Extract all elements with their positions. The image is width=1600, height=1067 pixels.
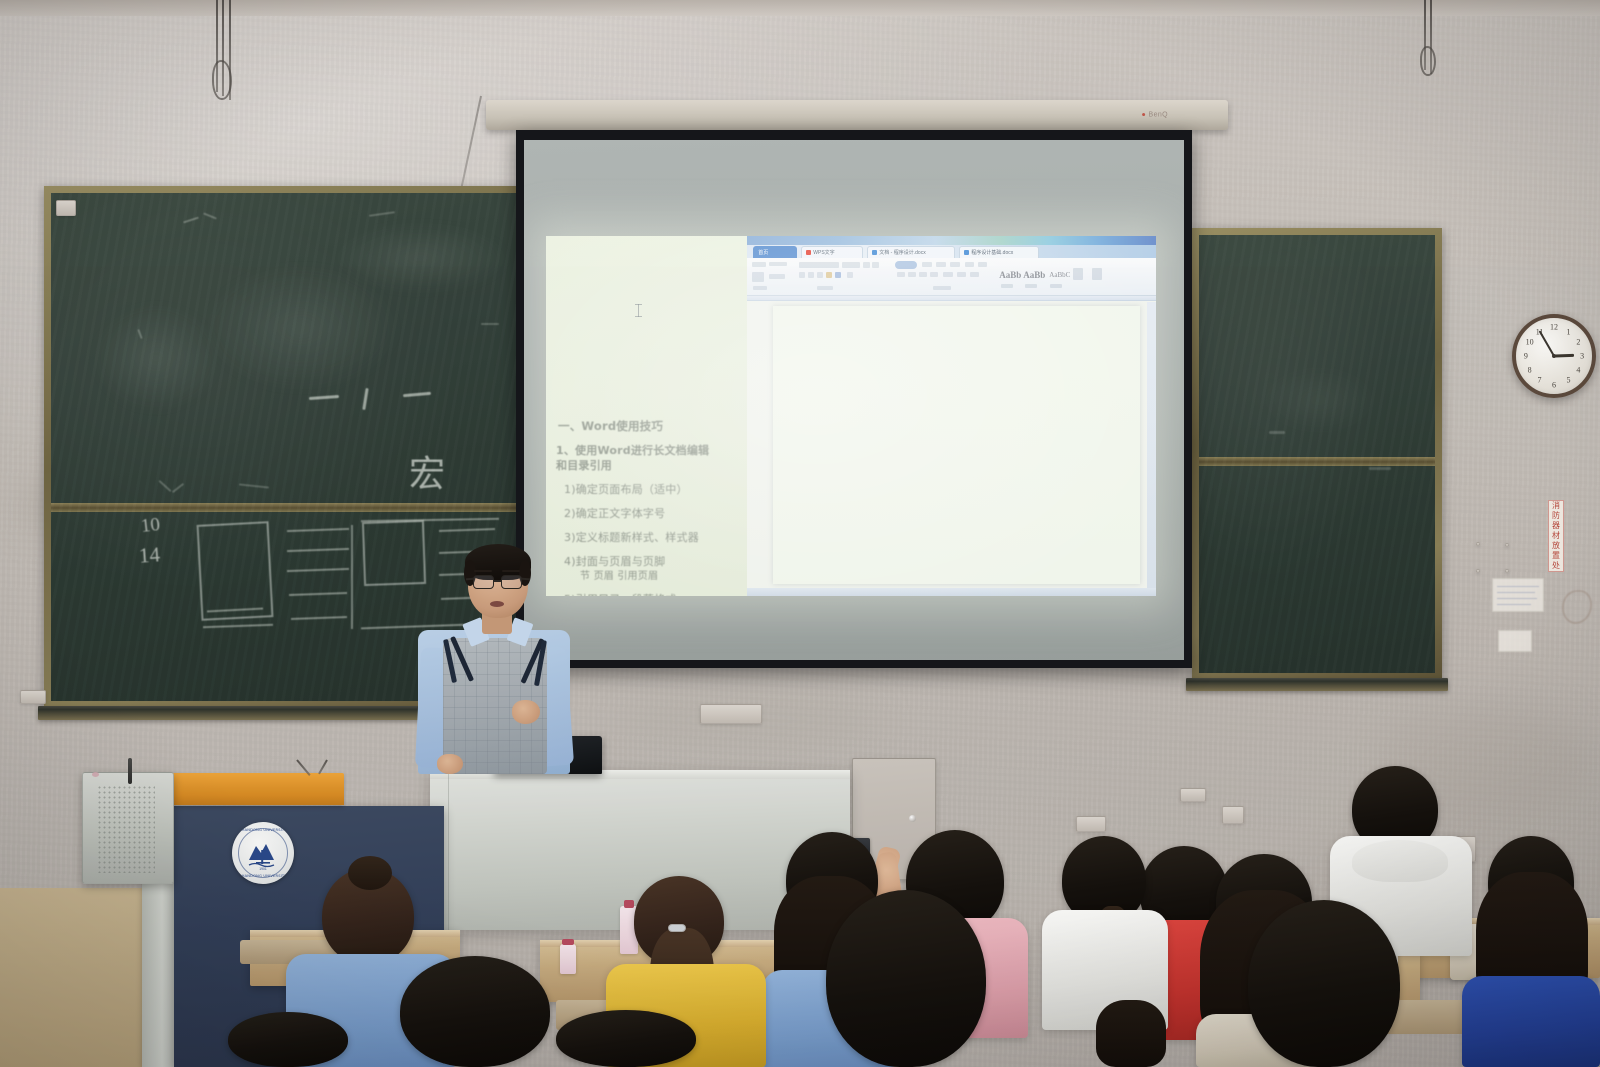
clock-numeral-8: 8	[1528, 366, 1532, 375]
projected-image: 一、Word使用技巧 1、使用Word进行长文档编辑 和目录引用 1)确定页面布…	[546, 236, 1156, 596]
wall-plate-left-top[interactable]	[56, 200, 76, 216]
chalk-mark-c	[369, 211, 395, 217]
projection-screen: 一、Word使用技巧 1、使用Word进行长文档编辑 和目录引用 1)确定页面布…	[516, 130, 1192, 668]
ribbon-font-color-button[interactable]	[835, 272, 841, 278]
blackboard-divider	[51, 503, 553, 512]
style-label-h2	[1050, 284, 1062, 288]
seal-text-bottom: SHANDONG UNIVERSITY	[232, 874, 294, 878]
student-head-front-left	[400, 956, 550, 1067]
ribbon-style-quick[interactable]	[895, 261, 917, 269]
style-label-normal	[1001, 284, 1013, 288]
slide-line-7: 节 页眉 引用页眉	[580, 572, 658, 583]
ribbon-underline-button[interactable]	[817, 272, 823, 278]
slide-line-3: 1)确定页面布局（适中）	[564, 484, 688, 496]
tab-document-1[interactable]: 文档 - 程序设计.docx	[867, 246, 955, 258]
slide-line-6: 4)封面与页眉与页脚	[564, 556, 665, 568]
ribbon-indent-dec[interactable]	[965, 262, 974, 267]
wall-conduit-left	[20, 690, 46, 704]
chalk-dash-1	[309, 395, 339, 400]
student-head-front-center	[826, 890, 986, 1067]
right-side-pane[interactable]	[1147, 302, 1156, 588]
wps-office-window: 首页 WPS文字 文档 - 程序设计.docx 程序设计基础.docx	[747, 236, 1156, 596]
ceiling-cable-knot-left	[212, 60, 232, 100]
student-head-front-right	[1248, 900, 1400, 1067]
chalk-page-rule-m3	[287, 568, 349, 572]
clock-numeral-4: 4	[1576, 366, 1580, 375]
chalk-page-rule-m4	[289, 592, 347, 596]
chalk-mark-b	[203, 212, 217, 219]
ribbon-bullets-button[interactable]	[922, 262, 932, 267]
seal-text-top: SHANDONG UNIVERSITY	[232, 828, 294, 832]
chalk-number-14: 14	[138, 542, 161, 568]
seal-year: 1901	[232, 867, 294, 871]
chalk-page-rule-r1	[439, 528, 495, 532]
tab-document-2-label: 程序设计基础.docx	[971, 249, 1013, 256]
speaker-grille	[97, 785, 155, 873]
clock-numeral-12: 12	[1550, 323, 1558, 332]
notice-rule-3	[1497, 598, 1537, 599]
lecturer-glasses-lens-right	[501, 575, 522, 589]
chalk-page-sketch-right	[362, 520, 426, 586]
wall-screw-3	[1476, 569, 1480, 573]
wall-outlet-center[interactable]	[1076, 816, 1106, 832]
wall-junction-box[interactable]	[1222, 806, 1244, 824]
doc-icon-1	[872, 250, 877, 255]
blackboard-right-divider	[1199, 457, 1435, 466]
clock-numeral-5: 5	[1566, 376, 1570, 385]
wall-sticker-small	[1498, 630, 1532, 652]
screen-brand-label: ● BenQ	[1142, 112, 1169, 119]
chalk-mark-a	[183, 217, 199, 224]
lecturer-hand-right	[512, 700, 540, 724]
chalk-mark-r1	[1269, 431, 1285, 434]
chalk-page-rule-m2	[287, 548, 349, 552]
cup-lid	[562, 939, 574, 945]
chalk-number-10: 10	[140, 514, 161, 538]
chalk-page-rule-m1	[287, 528, 349, 532]
ribbon-align-center[interactable]	[908, 272, 916, 277]
slide-line-8: 5)引用目录、段落格式	[564, 594, 677, 596]
chalk-page-outline-top	[361, 518, 499, 522]
podium-microphone-stalk[interactable]	[128, 758, 132, 784]
chalk-mark-e	[481, 323, 499, 325]
chalk-slash	[362, 388, 368, 410]
student-body-blue-far-right	[1462, 976, 1600, 1067]
wall-screw-4	[1505, 569, 1509, 573]
notice-rule-4	[1497, 604, 1531, 605]
style-preview-heading2[interactable]: AaBbC	[1049, 271, 1070, 279]
chalk-page-rule-m5	[291, 616, 347, 620]
ribbon-clipboard-label	[753, 286, 767, 290]
clock-numeral-2: 2	[1576, 337, 1580, 346]
lecturer-mouth	[490, 601, 504, 607]
chalk-mark-h	[239, 483, 269, 488]
ribbon-font-size-box[interactable]	[842, 262, 860, 268]
notice-rule-2	[1497, 592, 1535, 593]
ribbon-shading-button[interactable]	[957, 272, 966, 277]
clock-minute-hand	[1539, 330, 1555, 356]
lecturer-glasses-lens-left	[473, 575, 494, 589]
ribbon-cut-button[interactable]	[769, 262, 787, 266]
wall-notice-paper	[1492, 578, 1544, 612]
clock-numeral-6: 6	[1552, 380, 1556, 389]
ribbon-clear-format[interactable]	[847, 272, 853, 278]
chalk-mark-f	[158, 480, 171, 492]
style-label-h1	[1025, 284, 1037, 288]
hair-tie	[668, 924, 686, 932]
wall-screw-1	[1476, 542, 1480, 546]
document-tab-bar: 首页 WPS文字 文档 - 程序设计.docx 程序设计基础.docx	[747, 245, 1156, 258]
tab-wps-writer[interactable]: WPS文字	[801, 246, 863, 258]
chalk-page-sketch-left	[197, 521, 274, 621]
university-seal-logo: SHANDONG UNIVERSITY 1901 SHANDONG UNIVER…	[232, 822, 294, 884]
lecturer-hand-left	[437, 754, 463, 774]
wps-writer-icon	[806, 250, 811, 255]
wall-switch-box-left[interactable]	[700, 704, 762, 724]
ribbon-indent-inc[interactable]	[978, 262, 987, 267]
chalk-mark-g	[172, 483, 184, 493]
slide-heading: 一、Word使用技巧	[558, 420, 663, 432]
lecture-hall-photo: 宏 10 14	[0, 0, 1600, 1067]
ribbon-borders-button[interactable]	[970, 272, 979, 277]
document-page[interactable]	[773, 306, 1140, 584]
ribbon-multilevel-button[interactable]	[950, 262, 960, 267]
chalk-page-spine	[351, 525, 353, 629]
lecturer-brow-right	[502, 570, 520, 572]
slide-line-2: 和目录引用	[556, 460, 612, 472]
projector-screen-housing: ● BenQ	[486, 100, 1228, 130]
slide-line-4: 2)确定正文字体字号	[564, 508, 665, 520]
chalk-dust-2	[91, 303, 221, 413]
ribbon-paragraph-label	[933, 286, 951, 290]
ribbon-font-name-box[interactable]	[799, 262, 839, 268]
ribbon-align-justify[interactable]	[930, 272, 938, 277]
bun-blue-shirt-left	[348, 856, 392, 890]
chalk-dust-r1	[1259, 365, 1379, 435]
chalk-dash-2	[403, 392, 431, 397]
podium-speaker-panel[interactable]	[82, 772, 174, 884]
cabinet-knob[interactable]	[909, 815, 916, 822]
screen-brand-name: BenQ	[1149, 112, 1169, 119]
chalk-page-rule-l2	[203, 624, 273, 628]
slide-line-1: 1、使用Word进行长文档编辑	[556, 445, 709, 457]
style-preview-normal[interactable]: AaBb	[999, 270, 1021, 280]
tab-home[interactable]: 首页	[753, 246, 797, 258]
student-head-front-left-2	[556, 1010, 696, 1067]
doc-icon-2	[964, 250, 969, 255]
ribbon-find-replace[interactable]	[1092, 268, 1102, 280]
clock-center-pin	[1552, 354, 1556, 358]
lecturer-glasses-bridge	[494, 580, 501, 582]
wall-clock: 12 1 2 3 4 5 6 7 8 9 10 11	[1512, 314, 1596, 398]
chalk-mark-r2	[1369, 467, 1391, 470]
chalk-dust-3	[331, 223, 511, 293]
ribbon-numbering-button[interactable]	[936, 262, 946, 267]
horizontal-ruler[interactable]	[747, 296, 1156, 301]
clock-hour-hand	[1554, 354, 1574, 358]
ribbon-align-right[interactable]	[919, 272, 927, 277]
ribbon-align-left[interactable]	[897, 272, 905, 277]
status-bar	[747, 588, 1156, 596]
notice-rule-1	[1497, 586, 1539, 587]
text-cursor-icon	[638, 304, 639, 317]
clock-numeral-1: 1	[1566, 327, 1570, 336]
chalk-character-hong: 宏	[409, 445, 445, 497]
ribbon-copy-button[interactable]	[752, 272, 764, 282]
projection-screen-fabric: 一、Word使用技巧 1、使用Word进行长文档编辑 和目录引用 1)确定页面布…	[524, 140, 1184, 660]
style-preview-heading1[interactable]: AaBb	[1023, 270, 1045, 280]
chalk-tray-right	[1186, 678, 1448, 691]
screen-brand-dot: ●	[1142, 112, 1147, 119]
ribbon-format-painter[interactable]	[769, 274, 785, 279]
tab-home-label: 首页	[758, 249, 768, 256]
tab-document-1-label: 文档 - 程序设计.docx	[879, 249, 925, 256]
ribbon-bold-button[interactable]	[799, 272, 805, 278]
wall-outlet-right[interactable]	[1180, 788, 1206, 802]
counter-seam	[448, 770, 449, 930]
ribbon-grow-font[interactable]	[863, 262, 870, 268]
ribbon-line-spacing[interactable]	[943, 272, 953, 277]
ribbon-font-label	[817, 286, 833, 290]
ribbon-highlight-button[interactable]	[826, 272, 832, 278]
student-head-edge-right	[1096, 1000, 1166, 1067]
hoodie-hood	[1352, 840, 1448, 882]
tab-document-2[interactable]: 程序设计基础.docx	[959, 246, 1039, 258]
ribbon-paste-button[interactable]	[752, 262, 766, 267]
lecturer-brow-left	[474, 570, 492, 572]
clock-numeral-10: 10	[1526, 337, 1534, 346]
ribbon-shrink-font[interactable]	[872, 262, 879, 268]
document-left-page: 一、Word使用技巧 1、使用Word进行长文档编辑 和目录引用 1)确定页面布…	[546, 236, 747, 596]
clock-numeral-7: 7	[1538, 376, 1542, 385]
wall-screw-2	[1505, 543, 1509, 547]
blackboard-right	[1192, 228, 1442, 680]
bottle-cap	[624, 900, 634, 908]
ribbon-italic-button[interactable]	[808, 272, 814, 278]
ribbon-styles-more[interactable]	[1073, 268, 1083, 280]
clock-numeral-3: 3	[1580, 352, 1584, 361]
fire-equipment-sign: 消防器材放置处	[1548, 500, 1564, 572]
ceiling-cable-knot-right	[1420, 46, 1436, 76]
slide-line-5: 3)定义标题新样式、样式器	[564, 532, 699, 544]
student-head-far-front-left	[228, 1012, 348, 1067]
clock-numeral-9: 9	[1524, 352, 1528, 361]
cup-on-desk	[560, 944, 576, 974]
tab-wps-writer-label: WPS文字	[813, 249, 834, 256]
ribbon-toolbar: AaBb AaBb AaBbC	[747, 258, 1156, 296]
microphone-head-icon	[92, 772, 99, 777]
ceiling-strip	[0, 0, 1600, 16]
blackboard-right-surface	[1199, 235, 1435, 673]
